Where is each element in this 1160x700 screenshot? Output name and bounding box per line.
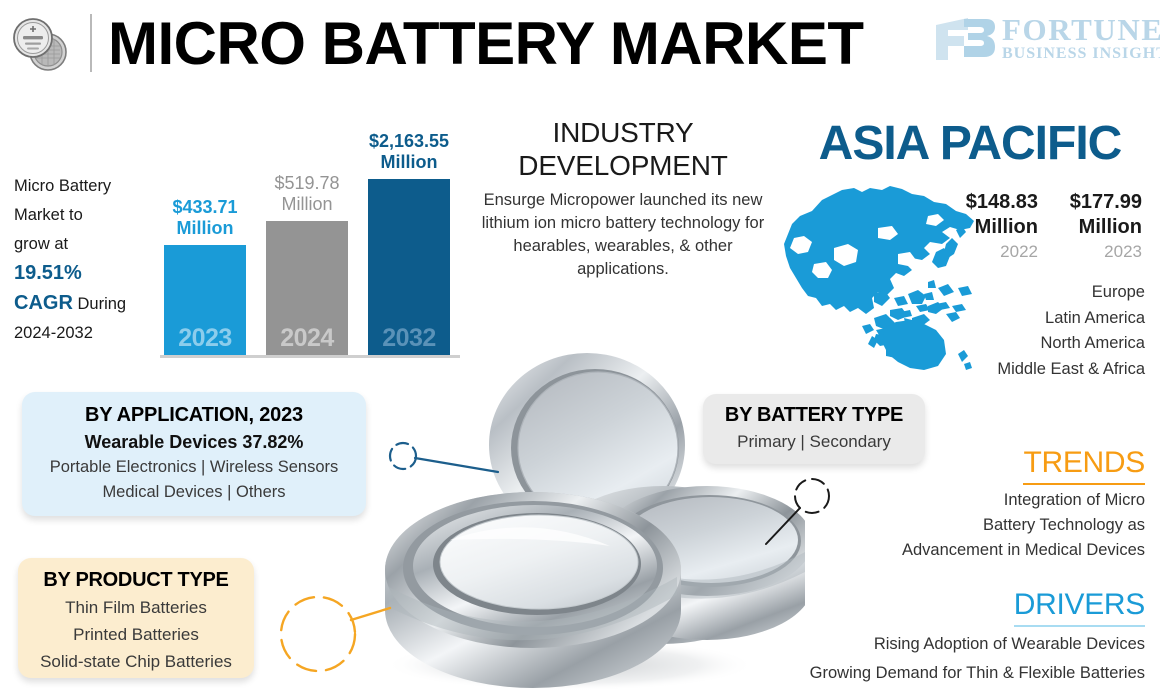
- by-application-highlight: Wearable Devices 37.82%: [22, 429, 366, 455]
- trends-line-2: Battery Technology as: [830, 513, 1145, 538]
- bar-2032: 2032: [368, 179, 450, 355]
- region-item-north-america: North America: [900, 331, 1145, 357]
- by-product-type-card[interactable]: BY PRODUCT TYPE Thin Film Batteries Prin…: [18, 558, 254, 678]
- pointer-circle-orange: [274, 582, 394, 682]
- industry-development-body: Ensurge Micropower launched its new lith…: [470, 189, 776, 281]
- by-product-type-title: BY PRODUCT TYPE: [18, 566, 254, 594]
- logo-text-business-insights: BUSINESS INSIGHTS: [1002, 45, 1160, 63]
- by-application-line-1: Portable Electronics | Wireless Sensors: [22, 455, 366, 480]
- other-regions-list: Europe Latin America North America Middl…: [900, 280, 1145, 382]
- bar-year-0: 2023: [164, 324, 246, 353]
- drivers-heading: DRIVERS: [860, 588, 1145, 627]
- industry-development-title-2: DEVELOPMENT: [470, 149, 776, 182]
- bar-value-label-2: $2,163.55 Million: [355, 131, 463, 173]
- bar-2024: 2024: [266, 221, 348, 355]
- region-item-middle-east-africa: Middle East & Africa: [900, 357, 1145, 383]
- cagr-line-1: Micro Battery: [14, 172, 164, 201]
- bar-2023: 2023: [164, 245, 246, 355]
- logo-text-fortune: FORTUNE: [1002, 12, 1160, 48]
- cagr-line-3: grow at: [14, 230, 164, 259]
- header: MICRO BATTERY MARKET FORTUNE BUSINESS IN…: [0, 0, 1160, 88]
- drivers-line-2: Growing Demand for Thin & Flexible Batte…: [760, 659, 1145, 688]
- infographic-canvas: MICRO BATTERY MARKET FORTUNE BUSINESS IN…: [0, 0, 1160, 700]
- region-item-europe: Europe: [900, 280, 1145, 306]
- industry-development-title-1: INDUSTRY: [470, 116, 776, 149]
- by-product-type-item-2: Solid-state Chip Batteries: [18, 648, 254, 675]
- bar-value-label-0: $433.71 Million: [151, 197, 259, 239]
- fbi-logo-mark-icon: [934, 16, 996, 62]
- trends-heading: TRENDS: [860, 446, 1145, 485]
- cagr-rate: 19.51%: [14, 262, 82, 284]
- page-title: MICRO BATTERY MARKET: [108, 6, 908, 82]
- trends-body: Integration of Micro Battery Technology …: [830, 488, 1145, 563]
- coin-battery-icon: [8, 14, 74, 74]
- coin-cell-batteries-photo: [355, 335, 805, 700]
- fortune-business-insights-logo: FORTUNE BUSINESS INSIGHTS: [934, 12, 1148, 70]
- by-application-line-2: Medical Devices | Others: [22, 480, 366, 505]
- bar-value-label-1: $519.78 Million: [253, 173, 361, 215]
- by-application-title: BY APPLICATION, 2023: [22, 401, 366, 429]
- drivers-body: Rising Adoption of Wearable Devices Grow…: [760, 630, 1145, 688]
- trends-line-3: Advancement in Medical Devices: [830, 538, 1145, 563]
- by-product-type-item-1: Printed Batteries: [18, 621, 254, 648]
- region-value-2022: $148.83 Million 2022: [952, 190, 1038, 263]
- region-title: ASIA PACIFIC: [786, 118, 1154, 170]
- cagr-text-block: Micro Battery Market to grow at 19.51% C…: [14, 172, 164, 348]
- cagr-word: CAGR: [14, 292, 73, 314]
- pointer-circle-blue: [386, 440, 506, 486]
- region-item-latin-america: Latin America: [900, 306, 1145, 332]
- industry-development-section: INDUSTRY DEVELOPMENT Ensurge Micropower …: [470, 116, 776, 281]
- cagr-period: 2024-2032: [14, 319, 164, 348]
- by-product-type-item-0: Thin Film Batteries: [18, 594, 254, 621]
- region-value-2023: $177.99 Million 2023: [1046, 190, 1142, 263]
- header-divider: [90, 14, 92, 72]
- bar-year-1: 2024: [266, 324, 348, 353]
- by-battery-type-title: BY BATTERY TYPE: [703, 401, 925, 429]
- cagr-during: During: [77, 295, 126, 313]
- drivers-line-1: Rising Adoption of Wearable Devices: [760, 630, 1145, 659]
- cagr-line-2: Market to: [14, 201, 164, 230]
- trends-line-1: Integration of Micro: [830, 488, 1145, 513]
- by-application-card[interactable]: BY APPLICATION, 2023 Wearable Devices 37…: [22, 392, 366, 516]
- bar-chart: $433.71 Million 2023 $519.78 Million 202…: [160, 110, 460, 358]
